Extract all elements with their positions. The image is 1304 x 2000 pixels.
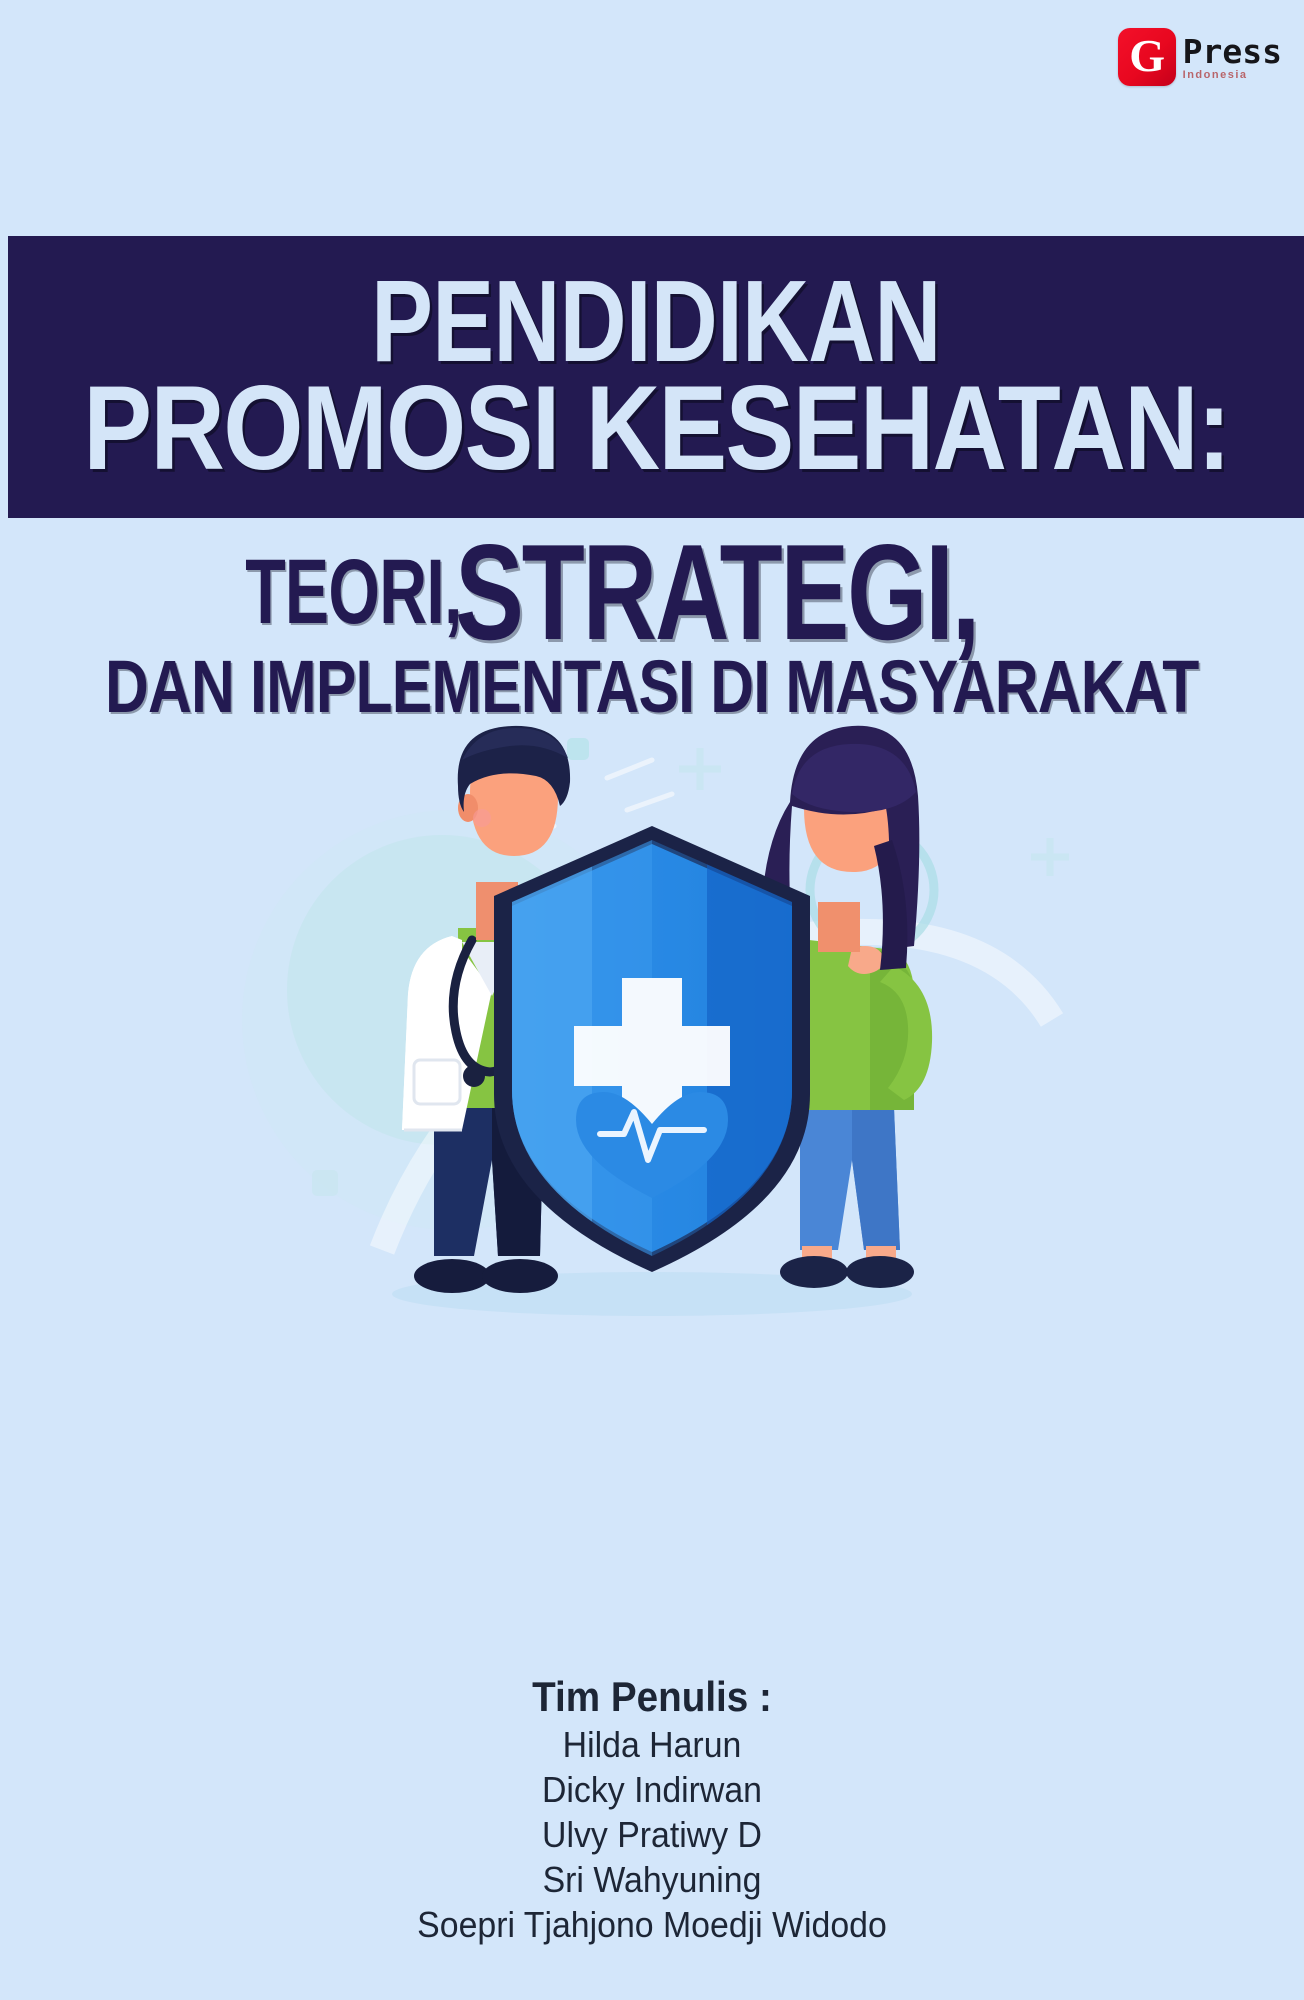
authors-heading: Tim Penulis : xyxy=(52,1672,1252,1722)
author-name: Soepri Tjahjono Moedji Widodo xyxy=(39,1902,1265,1947)
illustration-svg xyxy=(152,690,1152,1330)
author-name: Ulvy Pratiwy D xyxy=(39,1812,1265,1857)
book-cover: G Press Indonesia PENDIDIKAN PROMOSI KES… xyxy=(0,0,1304,2000)
title-line-3: TEORI, STRATEGI, xyxy=(0,522,1304,662)
publisher-logo-letter: G xyxy=(1129,33,1164,79)
author-name: Hilda Harun xyxy=(39,1722,1265,1767)
publisher-logo-word: Press xyxy=(1183,36,1282,67)
authors-block: Tim Penulis : Hilda Harun Dicky Indirwan… xyxy=(0,1672,1304,1947)
title-line-2: PROMOSI KESEHATAN: xyxy=(83,376,1229,482)
author-name: Dicky Indirwan xyxy=(39,1767,1265,1812)
publisher-logo: G Press Indonesia xyxy=(1118,28,1282,92)
cover-illustration xyxy=(0,690,1304,1330)
publisher-logo-mark-icon: G xyxy=(1118,28,1176,86)
publisher-logo-text: Press Indonesia xyxy=(1183,28,1282,81)
publisher-logo-subtitle: Indonesia xyxy=(1183,69,1282,81)
title-line-1: PENDIDIKAN xyxy=(371,272,940,372)
title-strategi: STRATEGI, xyxy=(455,531,978,653)
title-teori: TEORI, xyxy=(245,551,461,634)
title-band: PENDIDIKAN PROMOSI KESEHATAN: xyxy=(8,236,1304,518)
author-name: Sri Wahyuning xyxy=(39,1857,1265,1902)
